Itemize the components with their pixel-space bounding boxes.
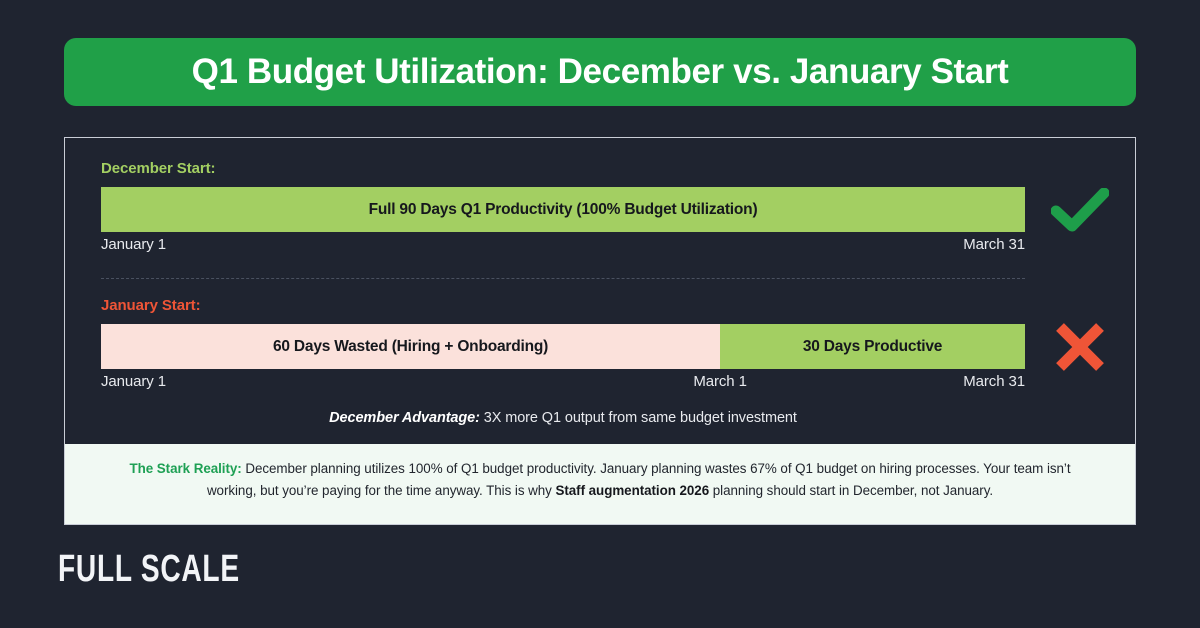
- tick-start-december: January 1: [101, 236, 166, 253]
- card-body: December Start: Full 90 Days Q1 Producti…: [65, 138, 1135, 426]
- bar-segment-days-productive: 30 Days Productive: [720, 324, 1025, 369]
- comparison-card: December Start: Full 90 Days Q1 Producti…: [64, 137, 1136, 525]
- timeline-row-january: January Start: 60 Days Wasted (Hiring + …: [101, 297, 1099, 397]
- stark-reality-bold-phrase: Staff augmentation 2026: [555, 483, 709, 498]
- bar-wrap-december: Full 90 Days Q1 Productivity (100% Budge…: [101, 187, 1099, 232]
- timeline-bar-january: 60 Days Wasted (Hiring + Onboarding) 30 …: [101, 324, 1025, 369]
- tick-start-january: January 1: [101, 373, 166, 390]
- page-title: Q1 Budget Utilization: December vs. Janu…: [192, 52, 1009, 92]
- advantage-text: 3X more Q1 output from same budget inves…: [480, 410, 797, 426]
- check-icon: [1049, 187, 1111, 232]
- row-label-january: January Start:: [101, 297, 1099, 314]
- stark-reality-heading: The Stark Reality:: [129, 461, 241, 476]
- ticks-january: January 1 March 1 March 31: [101, 373, 1025, 397]
- stark-reality-panel: The Stark Reality: December planning uti…: [65, 444, 1135, 524]
- tick-end-january: March 31: [963, 373, 1025, 390]
- row-label-december: December Start:: [101, 160, 1099, 177]
- ticks-december: January 1 March 31: [101, 236, 1025, 260]
- cross-icon: [1049, 324, 1111, 369]
- infographic-canvas: Q1 Budget Utilization: December vs. Janu…: [0, 0, 1200, 628]
- timeline-row-december: December Start: Full 90 Days Q1 Producti…: [101, 160, 1099, 260]
- title-banner: Q1 Budget Utilization: December vs. Janu…: [64, 38, 1136, 106]
- advantage-label: December Advantage:: [329, 410, 480, 426]
- bar-segment-full-productivity: Full 90 Days Q1 Productivity (100% Budge…: [101, 187, 1025, 232]
- timeline-bar-december: Full 90 Days Q1 Productivity (100% Budge…: [101, 187, 1025, 232]
- bar-segment-days-wasted: 60 Days Wasted (Hiring + Onboarding): [101, 324, 720, 369]
- full-scale-logo: FULL SCALE: [58, 548, 240, 591]
- stark-reality-text: The Stark Reality: December planning uti…: [105, 458, 1095, 501]
- tick-mid-january: March 1: [693, 373, 747, 390]
- bar-wrap-january: 60 Days Wasted (Hiring + Onboarding) 30 …: [101, 324, 1099, 369]
- december-advantage-note: December Advantage: 3X more Q1 output fr…: [101, 410, 1025, 426]
- section-divider: [101, 278, 1025, 279]
- tick-end-december: March 31: [963, 236, 1025, 253]
- stark-reality-part2: planning should start in December, not J…: [709, 483, 993, 498]
